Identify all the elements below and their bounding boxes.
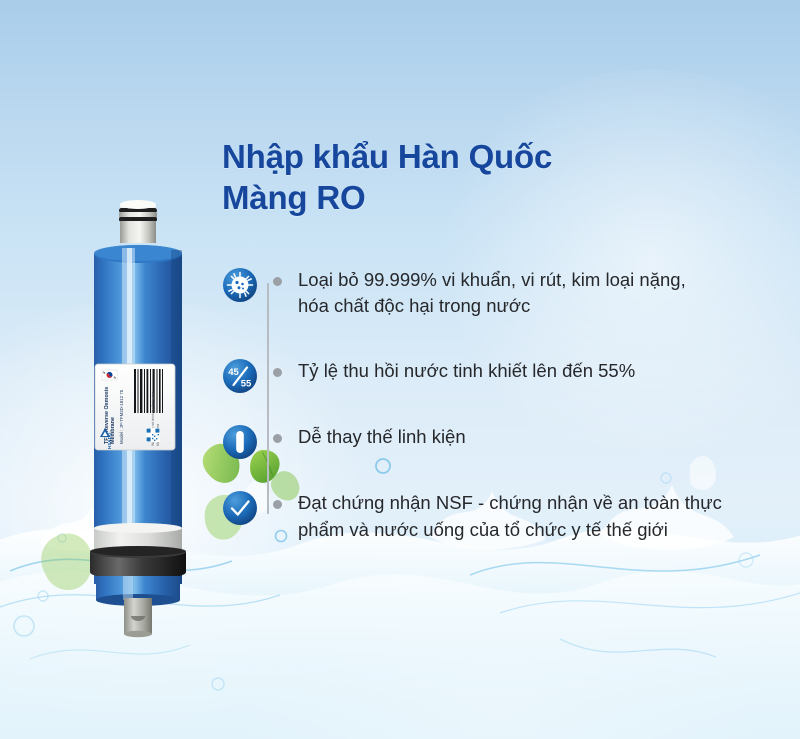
filter-cartridge-icon: [222, 424, 258, 460]
feature-item-recovery-ratio: 45 55 Tỷ lệ thu hồi nước tinh khiết lên …: [222, 356, 782, 400]
virus-icon: [222, 267, 258, 303]
feature-item-nsf-certification: Đạt chứng nhận NSF - chứng nhận về an to…: [222, 488, 782, 544]
feature-text: Tỷ lệ thu hồi nước tinh khiết lên đến 55…: [286, 356, 782, 385]
svg-text:HSADG: HSADG: [107, 432, 112, 449]
feature-bullet-dot: [268, 488, 286, 509]
feature-bullet-dot: [268, 422, 286, 443]
background-glow-bottom: [180, 539, 800, 739]
feature-list: Loại bỏ 99.999% vi khuẩn, vi rút, kim lo…: [222, 265, 782, 544]
ratio-bottom-label: 55: [241, 379, 252, 390]
feature-text: Dễ thay thế linh kiện: [286, 422, 782, 451]
feature-bullet-dot: [268, 265, 286, 286]
feature-bullet-dot: [268, 356, 286, 377]
ratio-top-label: 45: [228, 367, 239, 378]
ratio-45-55-icon: 45 55: [222, 358, 258, 394]
feature-item-bacteria-removal: Loại bỏ 99.999% vi khuẩn, vi rút, kim lo…: [222, 265, 782, 321]
check-circle-icon: [222, 490, 258, 526]
feature-item-easy-replacement: Dễ thay thế linh kiện: [222, 422, 782, 466]
ro-membrane-product-image: TFC Reverse Osmosis Membrane Model : JP-…: [78, 192, 198, 640]
feature-text: Loại bỏ 99.999% vi khuẩn, vi rút, kim lo…: [286, 265, 782, 321]
svg-text:Model : JP-TFM3D-1812 75: Model : JP-TFM3D-1812 75: [119, 389, 124, 444]
product-label: TFC Reverse Osmosis Membrane Model : JP-…: [95, 364, 175, 450]
product-banner: TFC Reverse Osmosis Membrane Model : JP-…: [0, 0, 800, 739]
page-title: Nhập khẩu Hàn Quốc Màng RO: [222, 136, 782, 219]
content-column: Nhập khẩu Hàn Quốc Màng RO: [222, 136, 782, 544]
feature-text: Đạt chứng nhận NSF - chứng nhận về an to…: [286, 488, 782, 544]
